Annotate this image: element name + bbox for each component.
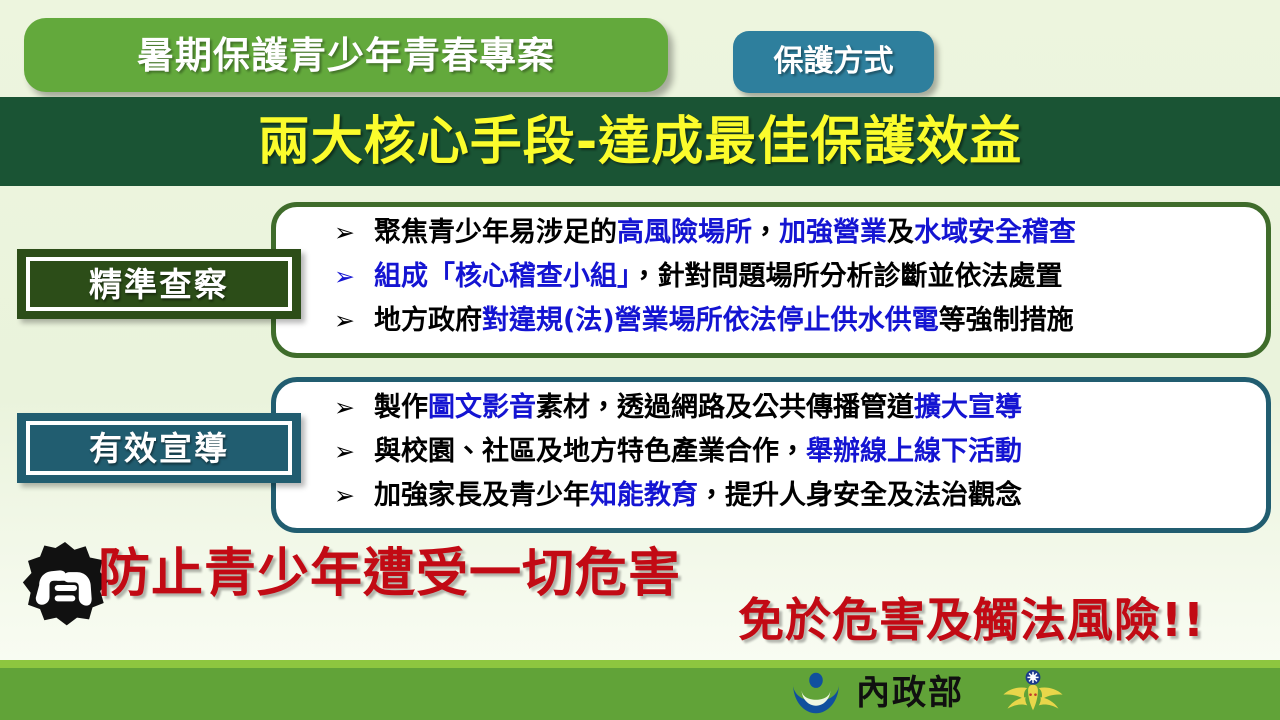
bullet-segment: 及 — [887, 217, 914, 248]
bullet-segment: 高風險場所 — [617, 217, 752, 248]
bullet-text: 地方政府對違規(法)營業場所依法停止供水供電等強制措施 — [374, 307, 1074, 334]
bullet-marker-icon: ➢ — [334, 264, 374, 289]
bullet-text: 與校園、社區及地方特色產業合作，舉辦線上線下活動 — [374, 438, 1022, 465]
bullet-marker-icon: ➢ — [334, 308, 374, 333]
bullet-text: 組成「核心稽查小組」，針對問題場所分析診斷並依法處置 — [374, 263, 1063, 290]
bullet-segment: 對違規(法)營業場所依法停止供水供電 — [482, 305, 939, 336]
bullet-list-2: ➢製作圖文影音素材，透過網路及公共傳播管道擴大宣導➢與校園、社區及地方特色產業合… — [334, 394, 1256, 526]
section-label-1-text: 精準查察 — [89, 268, 229, 301]
bullet-item: ➢組成「核心稽查小組」，針對問題場所分析診斷並依法處置 — [334, 263, 1256, 307]
footer-logo-group: 內政部 — [790, 668, 1066, 718]
bullet-segment: ，提升人身安全及法治觀念 — [698, 480, 1022, 511]
title-banner: 兩大核心手段-達成最佳保護效益 — [0, 97, 1280, 186]
bullet-segment: 與校園、社區及地方特色產業合作， — [374, 436, 806, 467]
section-label-effective-outreach: 有效宣導 — [17, 413, 301, 483]
bullet-segment: 擴大宣導 — [914, 392, 1022, 423]
bullet-list-1: ➢聚焦青少年易涉足的高風險場所，加強營業及水域安全稽查➢組成「核心稽查小組」，針… — [334, 219, 1256, 351]
bullet-text: 加強家長及青少年知能教育，提升人身安全及法治觀念 — [374, 482, 1022, 509]
bullet-segment: 等強制措施 — [939, 305, 1074, 336]
police-emblem-icon — [1000, 670, 1066, 716]
section-tag-label: 保護方式 — [774, 47, 894, 77]
bullet-marker-icon: ➢ — [334, 483, 374, 508]
content-panel-effective-outreach: ➢製作圖文影音素材，透過網路及公共傳播管道擴大宣導➢與校園、社區及地方特色產業合… — [271, 377, 1271, 533]
bullet-item: ➢地方政府對違規(法)營業場所依法停止供水供電等強制措施 — [334, 307, 1256, 351]
program-tag: 暑期保護青少年青春專案 — [24, 18, 668, 92]
bullet-segment: 加強營業 — [779, 217, 887, 248]
bullet-segment: 素材，透過網路及公共傳播管道 — [536, 392, 914, 423]
section-label-2-text: 有效宣導 — [89, 432, 229, 465]
bullet-segment: 水域安全稽查 — [914, 217, 1076, 248]
footer-bar — [0, 668, 1280, 720]
bullet-segment: 圖文影音 — [428, 392, 536, 423]
section-tag: 保護方式 — [733, 31, 934, 93]
banner-title: 兩大核心手段-達成最佳保護效益 — [258, 116, 1023, 168]
ministry-name: 內政部 — [856, 676, 964, 710]
bullet-segment: 舉辦線上線下活動 — [806, 436, 1022, 467]
footer-accent-strip — [0, 660, 1280, 668]
program-tag-label: 暑期保護青少年青春專案 — [137, 37, 555, 74]
content-panel-precise-inspection: ➢聚焦青少年易涉足的高風險場所，加強營業及水域安全稽查➢組成「核心稽查小組」，針… — [271, 202, 1271, 358]
bullet-marker-icon: ➢ — [334, 220, 374, 245]
bullet-segment: 地方政府 — [374, 305, 482, 336]
bullet-segment: 製作 — [374, 392, 428, 423]
bullet-segment: 組成「核心稽查小組」 — [374, 261, 631, 292]
bullet-segment: 聚焦青少年易涉足的 — [374, 217, 617, 248]
slogan-primary: 防止青少年遭受一切危害 — [98, 548, 681, 600]
bullet-segment: ， — [752, 217, 779, 248]
bullet-item: ➢與校園、社區及地方特色產業合作，舉辦線上線下活動 — [334, 438, 1256, 482]
section-label-precise-inspection: 精準查察 — [17, 249, 301, 319]
clasped-fists-badge-icon — [22, 541, 108, 629]
bullet-marker-icon: ➢ — [334, 439, 374, 464]
bullet-text: 聚焦青少年易涉足的高風險場所，加強營業及水域安全稽查 — [374, 219, 1076, 246]
bullet-segment: 知能教育 — [590, 480, 698, 511]
bullet-item: ➢聚焦青少年易涉足的高風險場所，加強營業及水域安全稽查 — [334, 219, 1256, 263]
slogan-secondary: 免於危害及觸法風險!! — [738, 597, 1205, 643]
bullet-item: ➢加強家長及青少年知能教育，提升人身安全及法治觀念 — [334, 482, 1256, 526]
slide-canvas: 暑期保護青少年青春專案 保護方式 兩大核心手段-達成最佳保護效益 ➢聚焦青少年易… — [0, 0, 1280, 720]
bullet-text: 製作圖文影音素材，透過網路及公共傳播管道擴大宣導 — [374, 394, 1022, 421]
moi-logo-icon — [790, 671, 842, 715]
bullet-segment: 加強家長及青少年 — [374, 480, 590, 511]
bullet-marker-icon: ➢ — [334, 395, 374, 420]
bullet-item: ➢製作圖文影音素材，透過網路及公共傳播管道擴大宣導 — [334, 394, 1256, 438]
bullet-segment: ，針對問題場所分析診斷並依法處置 — [631, 261, 1063, 292]
